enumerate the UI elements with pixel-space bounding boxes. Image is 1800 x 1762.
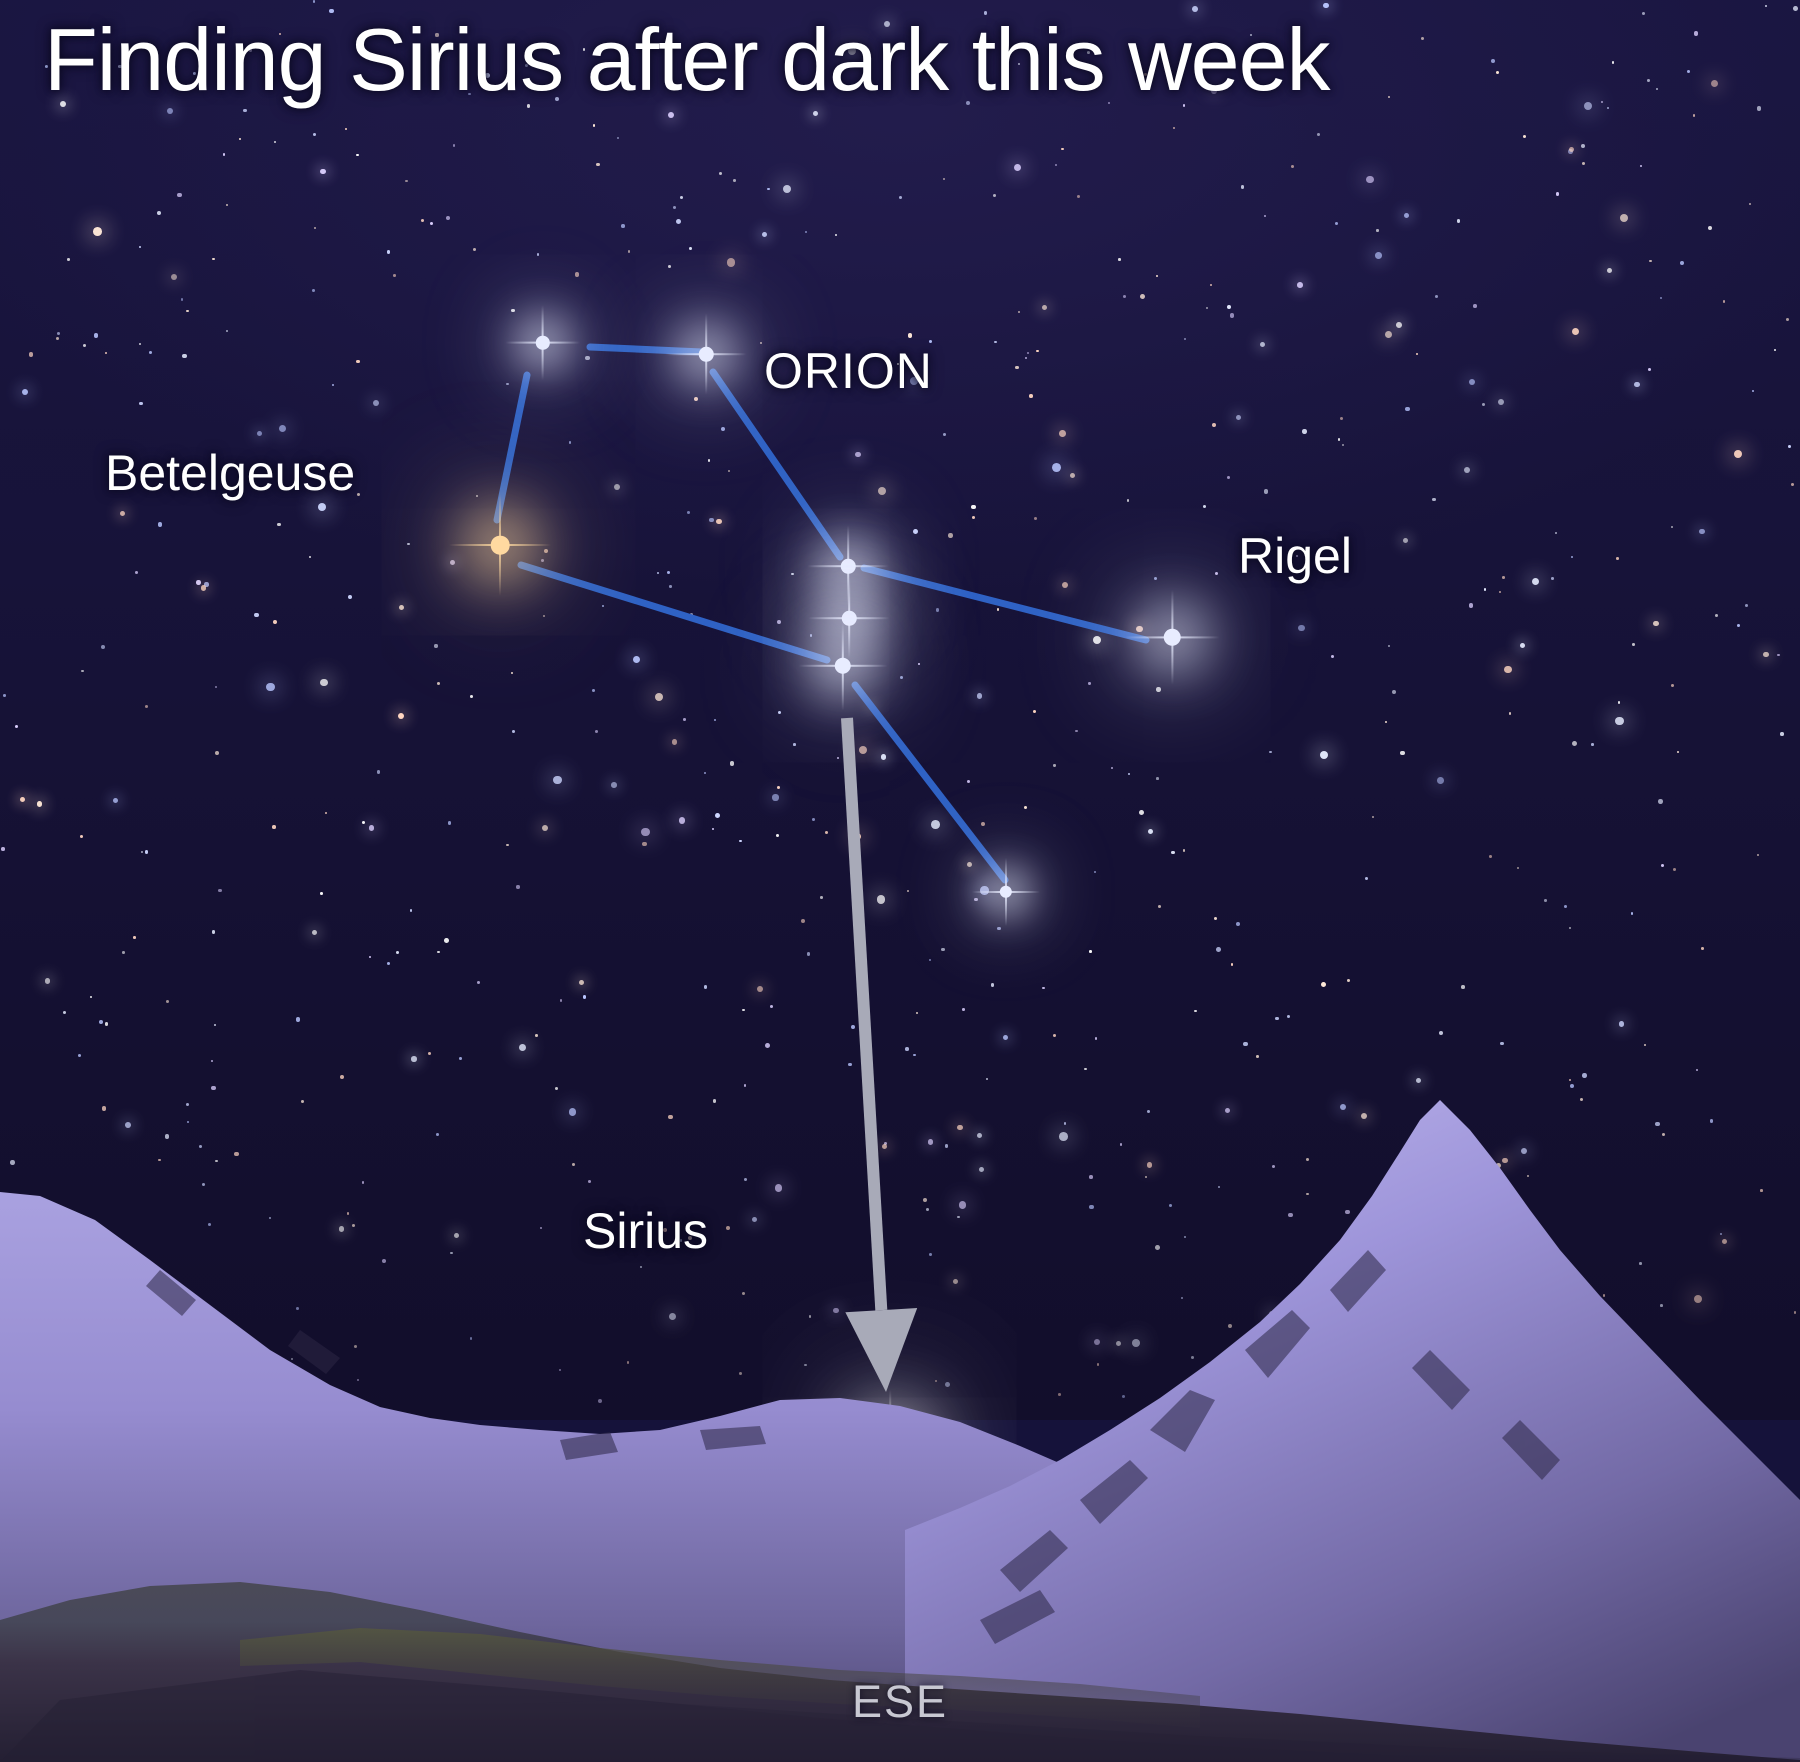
star-core [699, 347, 714, 362]
star-core [841, 559, 856, 574]
star-betelgeuse [449, 494, 551, 596]
star-mintaka [799, 622, 887, 710]
star-meissa [665, 313, 747, 395]
label-sirius: Sirius [583, 1202, 708, 1260]
constellation-line [521, 565, 827, 660]
compass-label-ese: ESE [0, 1676, 1800, 1728]
star-core [1000, 886, 1012, 898]
label-betelgeuse: Betelgeuse [105, 444, 355, 502]
right-peak [905, 1100, 1800, 1762]
constellation-line [855, 685, 1005, 880]
label-rigel: Rigel [1238, 527, 1352, 585]
constellation-line [864, 568, 1146, 640]
page-title: Finding Sirius after dark this week [44, 14, 1330, 106]
label-orion: ORION [764, 342, 933, 400]
mountain-landscape [0, 1100, 1800, 1762]
star-core [835, 658, 851, 674]
star-core [491, 536, 510, 555]
star-core [536, 336, 550, 350]
star-rigel [1124, 589, 1219, 684]
star-bellatrix [506, 306, 581, 381]
star-core [1163, 628, 1180, 645]
star-saiph [972, 858, 1040, 926]
star-chart-scene: Finding Sirius after dark this week ORIO… [0, 0, 1800, 1762]
